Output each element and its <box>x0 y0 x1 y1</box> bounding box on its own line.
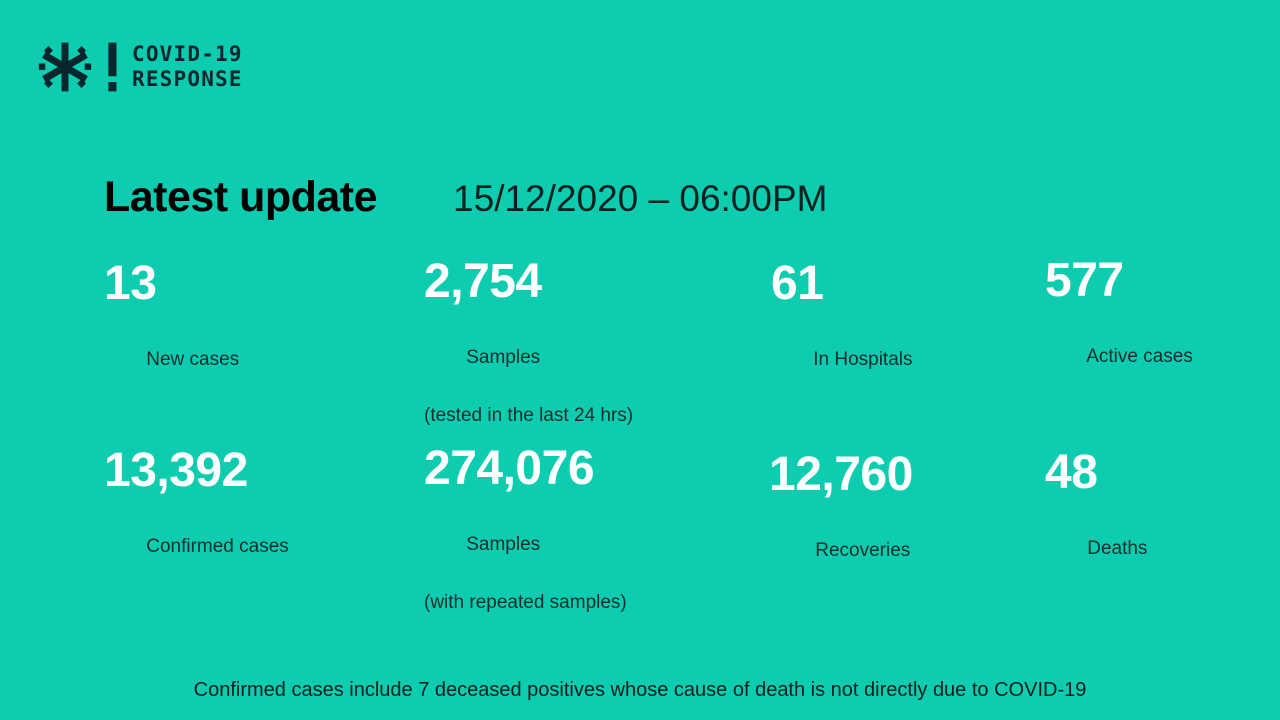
stat-label-main: Deaths <box>1087 538 1147 559</box>
stat-value: 12,760 <box>769 449 913 501</box>
stat-value: 13 <box>104 258 239 310</box>
stat-label: Deaths <box>1045 505 1147 592</box>
statistics-grid: 13 New cases 2,754 Samples (tested in th… <box>0 0 1280 720</box>
stat-label-main: Recoveries <box>815 540 910 561</box>
stat-new-cases: 13 New cases <box>104 258 239 403</box>
stat-active-cases: 577 Active cases <box>1045 255 1193 400</box>
stat-label: Samples (with repeated samples) <box>424 501 627 675</box>
stat-value: 2,754 <box>424 256 633 308</box>
stat-label-main: Active cases <box>1086 346 1193 367</box>
stat-label: Active cases <box>1045 313 1193 400</box>
stat-label-main: Samples <box>466 347 540 368</box>
stat-label-sub: (tested in the last 24 hrs) <box>424 401 633 430</box>
stat-value: 61 <box>771 258 913 310</box>
stat-label-main: In Hospitals <box>813 349 912 370</box>
stat-recoveries: 12,760 Recoveries <box>769 449 913 594</box>
stat-confirmed-cases: 13,392 Confirmed cases <box>104 445 289 590</box>
stat-samples-with-repeats: 274,076 Samples (with repeated samples) <box>424 443 627 675</box>
stat-value: 13,392 <box>104 445 289 497</box>
stat-value: 274,076 <box>424 443 627 495</box>
stat-label-main: Confirmed cases <box>146 536 289 557</box>
stat-label-main: Samples <box>466 534 540 555</box>
stat-value: 48 <box>1045 447 1147 499</box>
stat-label: New cases <box>104 316 239 403</box>
footnote-text: Confirmed cases include 7 deceased posit… <box>0 676 1280 704</box>
covid-dashboard-slide: COVID-19 RESPONSE Latest update 15/12/20… <box>0 0 1280 720</box>
stat-in-hospitals: 61 In Hospitals <box>771 258 913 403</box>
stat-label-sub: (with repeated samples) <box>424 588 627 617</box>
stat-value: 577 <box>1045 255 1193 307</box>
stat-label: In Hospitals <box>771 316 913 403</box>
stat-deaths: 48 Deaths <box>1045 447 1147 592</box>
stat-label-main: New cases <box>146 349 239 370</box>
stat-label: Recoveries <box>773 507 913 594</box>
stat-label: Confirmed cases <box>104 503 289 590</box>
